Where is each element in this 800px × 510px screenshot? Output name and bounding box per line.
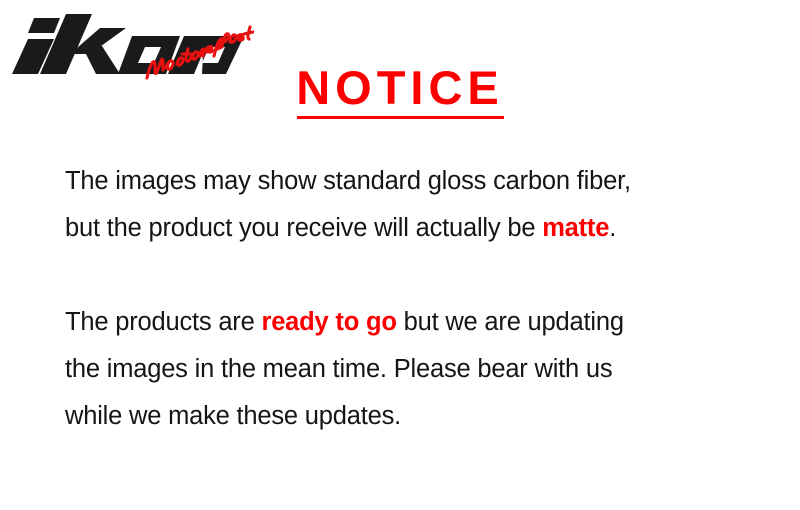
notice-line: but the product you receive will actuall… (65, 205, 765, 252)
notice-line: The products are ready to go but we are … (65, 299, 765, 346)
notice-text-segment: while we make these updates. (65, 402, 401, 430)
page-title: NOTICE (292, 64, 508, 119)
notice-highlight-matte: matte (542, 214, 609, 242)
notice-text-segment: the images in the mean time. Please bear… (65, 355, 612, 383)
notice-heading-wrap: NOTICE (0, 64, 800, 119)
notice-text-segment: . (609, 214, 616, 242)
notice-banner: NOTICE The images may show standard glos… (0, 0, 800, 510)
notice-line: while we make these updates. (65, 393, 765, 440)
notice-paragraph-2: The products are ready to go but we are … (65, 299, 765, 440)
notice-highlight-ready-to-go: ready to go (261, 308, 396, 336)
notice-text-segment: but the product you receive will actuall… (65, 214, 542, 242)
notice-text-segment: but we are updating (397, 308, 624, 336)
notice-line: the images in the mean time. Please bear… (65, 346, 765, 393)
notice-text-segment: The products are (65, 308, 261, 336)
notice-text-segment: The images may show standard gloss carbo… (65, 167, 631, 195)
notice-line: The images may show standard gloss carbo… (65, 158, 765, 205)
notice-heading-underline (297, 116, 504, 119)
notice-paragraph-1: The images may show standard gloss carbo… (65, 158, 765, 252)
notice-body: The images may show standard gloss carbo… (65, 158, 765, 440)
